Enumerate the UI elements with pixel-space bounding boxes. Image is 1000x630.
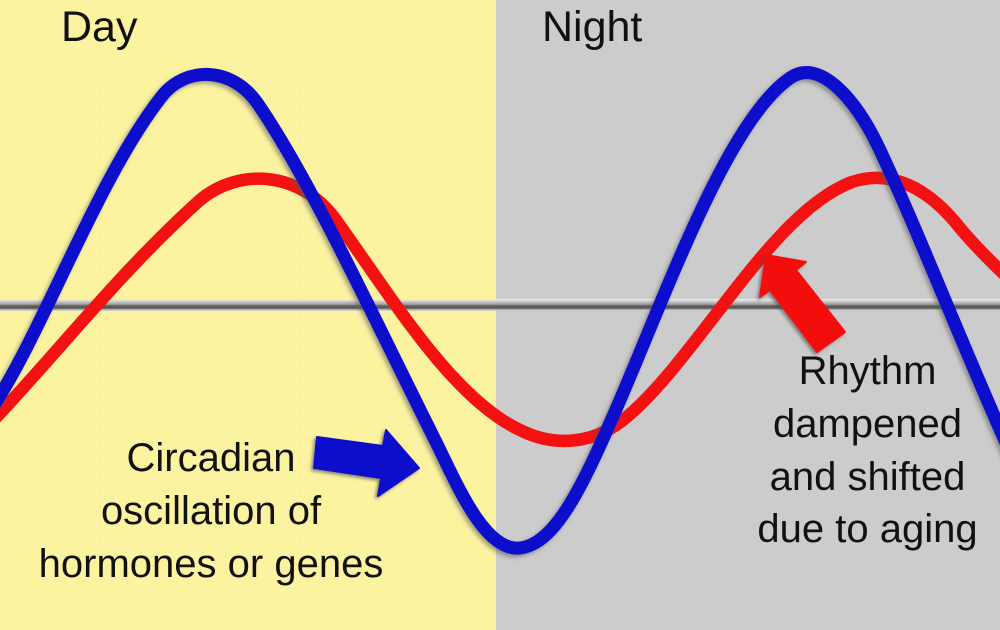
right-caption-line-2: dampened [735,398,1000,451]
circadian-rhythm-figure: Day Night Circadian oscillation of hormo… [0,0,1000,630]
right-annotation-caption: Rhythm dampened and shifted due to aging [735,345,1000,556]
left-caption-line-3: hormones or genes [6,538,416,591]
right-caption-line-1: Rhythm [735,345,1000,398]
left-caption-line-1: Circadian [6,432,416,485]
baseline-axis [0,299,1000,311]
right-caption-line-4: due to aging [735,503,1000,556]
day-region-label: Day [61,6,137,49]
left-caption-line-2: oscillation of [6,485,416,538]
left-annotation-caption: Circadian oscillation of hormones or gen… [6,432,416,590]
night-region-label: Night [542,6,642,49]
right-caption-line-3: and shifted [735,451,1000,504]
